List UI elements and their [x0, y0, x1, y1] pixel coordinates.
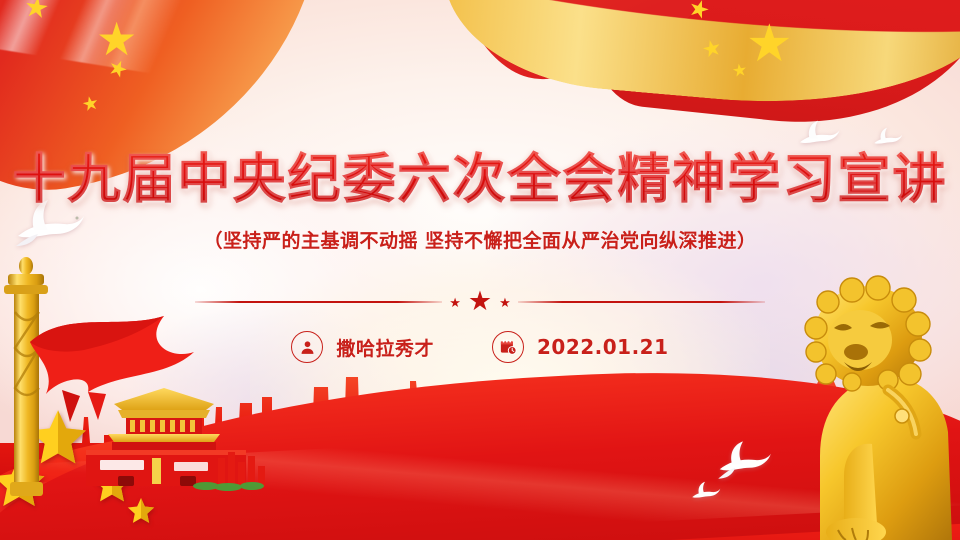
page-title: 十九届中央纪委六次全会精神学习宣讲 — [0, 137, 960, 213]
divider-line-left — [195, 301, 442, 303]
poster-canvas: ★ ★ ★ ★ ★ ★ ★ ★ ★ — [0, 0, 960, 540]
page-subtitle: （坚持严的主基调不动摇 坚持不懈把全面从严治党向纵深推进） — [0, 226, 960, 253]
author-name: 撒哈拉秀才 — [336, 334, 434, 361]
calendar-clock-icon — [492, 331, 524, 363]
divider-star-small-right: ★ — [499, 296, 511, 309]
date-item: 2022.01.21 — [492, 331, 669, 363]
divider-line-right — [518, 301, 765, 303]
meta-row: 撒哈拉秀才 2022.01.21 — [0, 331, 960, 363]
text-block: 十九届中央纪委六次全会精神学习宣讲 （坚持严的主基调不动摇 坚持不懈把全面从严治… — [0, 0, 960, 540]
divider-star-large: ★ — [468, 288, 492, 315]
person-icon — [291, 331, 323, 363]
star-divider: ★ ★ ★ — [195, 288, 765, 316]
divider-star-small-left: ★ — [449, 296, 461, 309]
publish-date: 2022.01.21 — [537, 335, 669, 359]
author-item: 撒哈拉秀才 — [291, 331, 434, 363]
